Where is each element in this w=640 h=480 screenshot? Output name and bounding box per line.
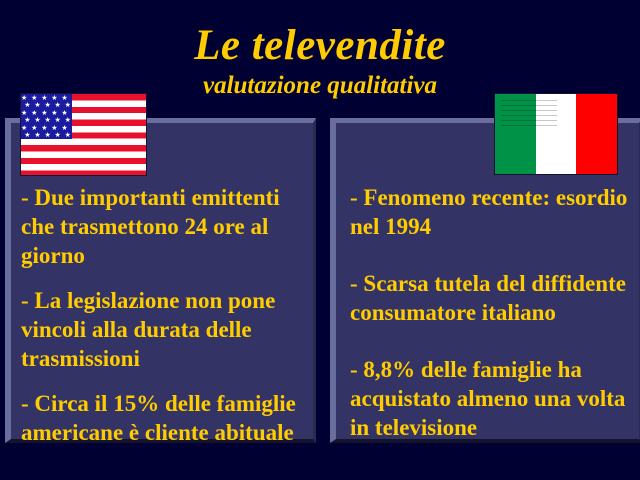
italy-flag-icon — [494, 93, 618, 175]
title-block: Le televendite valutazione qualitativa — [0, 22, 640, 100]
list-item: - 8,8% delle famiglie ha acquistato alme… — [350, 355, 637, 442]
page-title: Le televendite — [0, 22, 640, 70]
flag-stars: ★ ★ ★ ★ ★ ★ ★ ★ ★ ★ ★ ★ ★ ★ ★ ★ ★ ★ ★ ★ … — [21, 94, 72, 139]
bullet-list-usa: - Due importanti emittenti che trasmetto… — [21, 183, 311, 447]
list-item: - La legislazione non pone vincoli alla … — [21, 286, 311, 373]
bullet-list-italy: - Fenomeno recente: esordio nel 1994 - S… — [350, 183, 637, 442]
list-item: - Circa il 15% delle famiglie americane … — [21, 389, 311, 447]
united-states-flag-icon: ★ ★ ★ ★ ★ ★ ★ ★ ★ ★ ★ ★ ★ ★ ★ ★ ★ ★ ★ ★ … — [20, 93, 147, 176]
flag-canton: ★ ★ ★ ★ ★ ★ ★ ★ ★ ★ ★ ★ ★ ★ ★ ★ ★ ★ ★ ★ … — [21, 94, 72, 139]
list-item: - Fenomeno recente: esordio nel 1994 — [350, 183, 637, 241]
flag-band-green — [495, 94, 536, 174]
list-item: - Due importanti emittenti che trasmetto… — [21, 183, 311, 270]
list-item: - Scarsa tutela del diffidente consumato… — [350, 269, 637, 327]
flag-band-white — [536, 94, 577, 174]
presentation-slide: Le televendite valutazione qualitativa -… — [0, 0, 640, 480]
flag-band-red — [576, 94, 617, 174]
